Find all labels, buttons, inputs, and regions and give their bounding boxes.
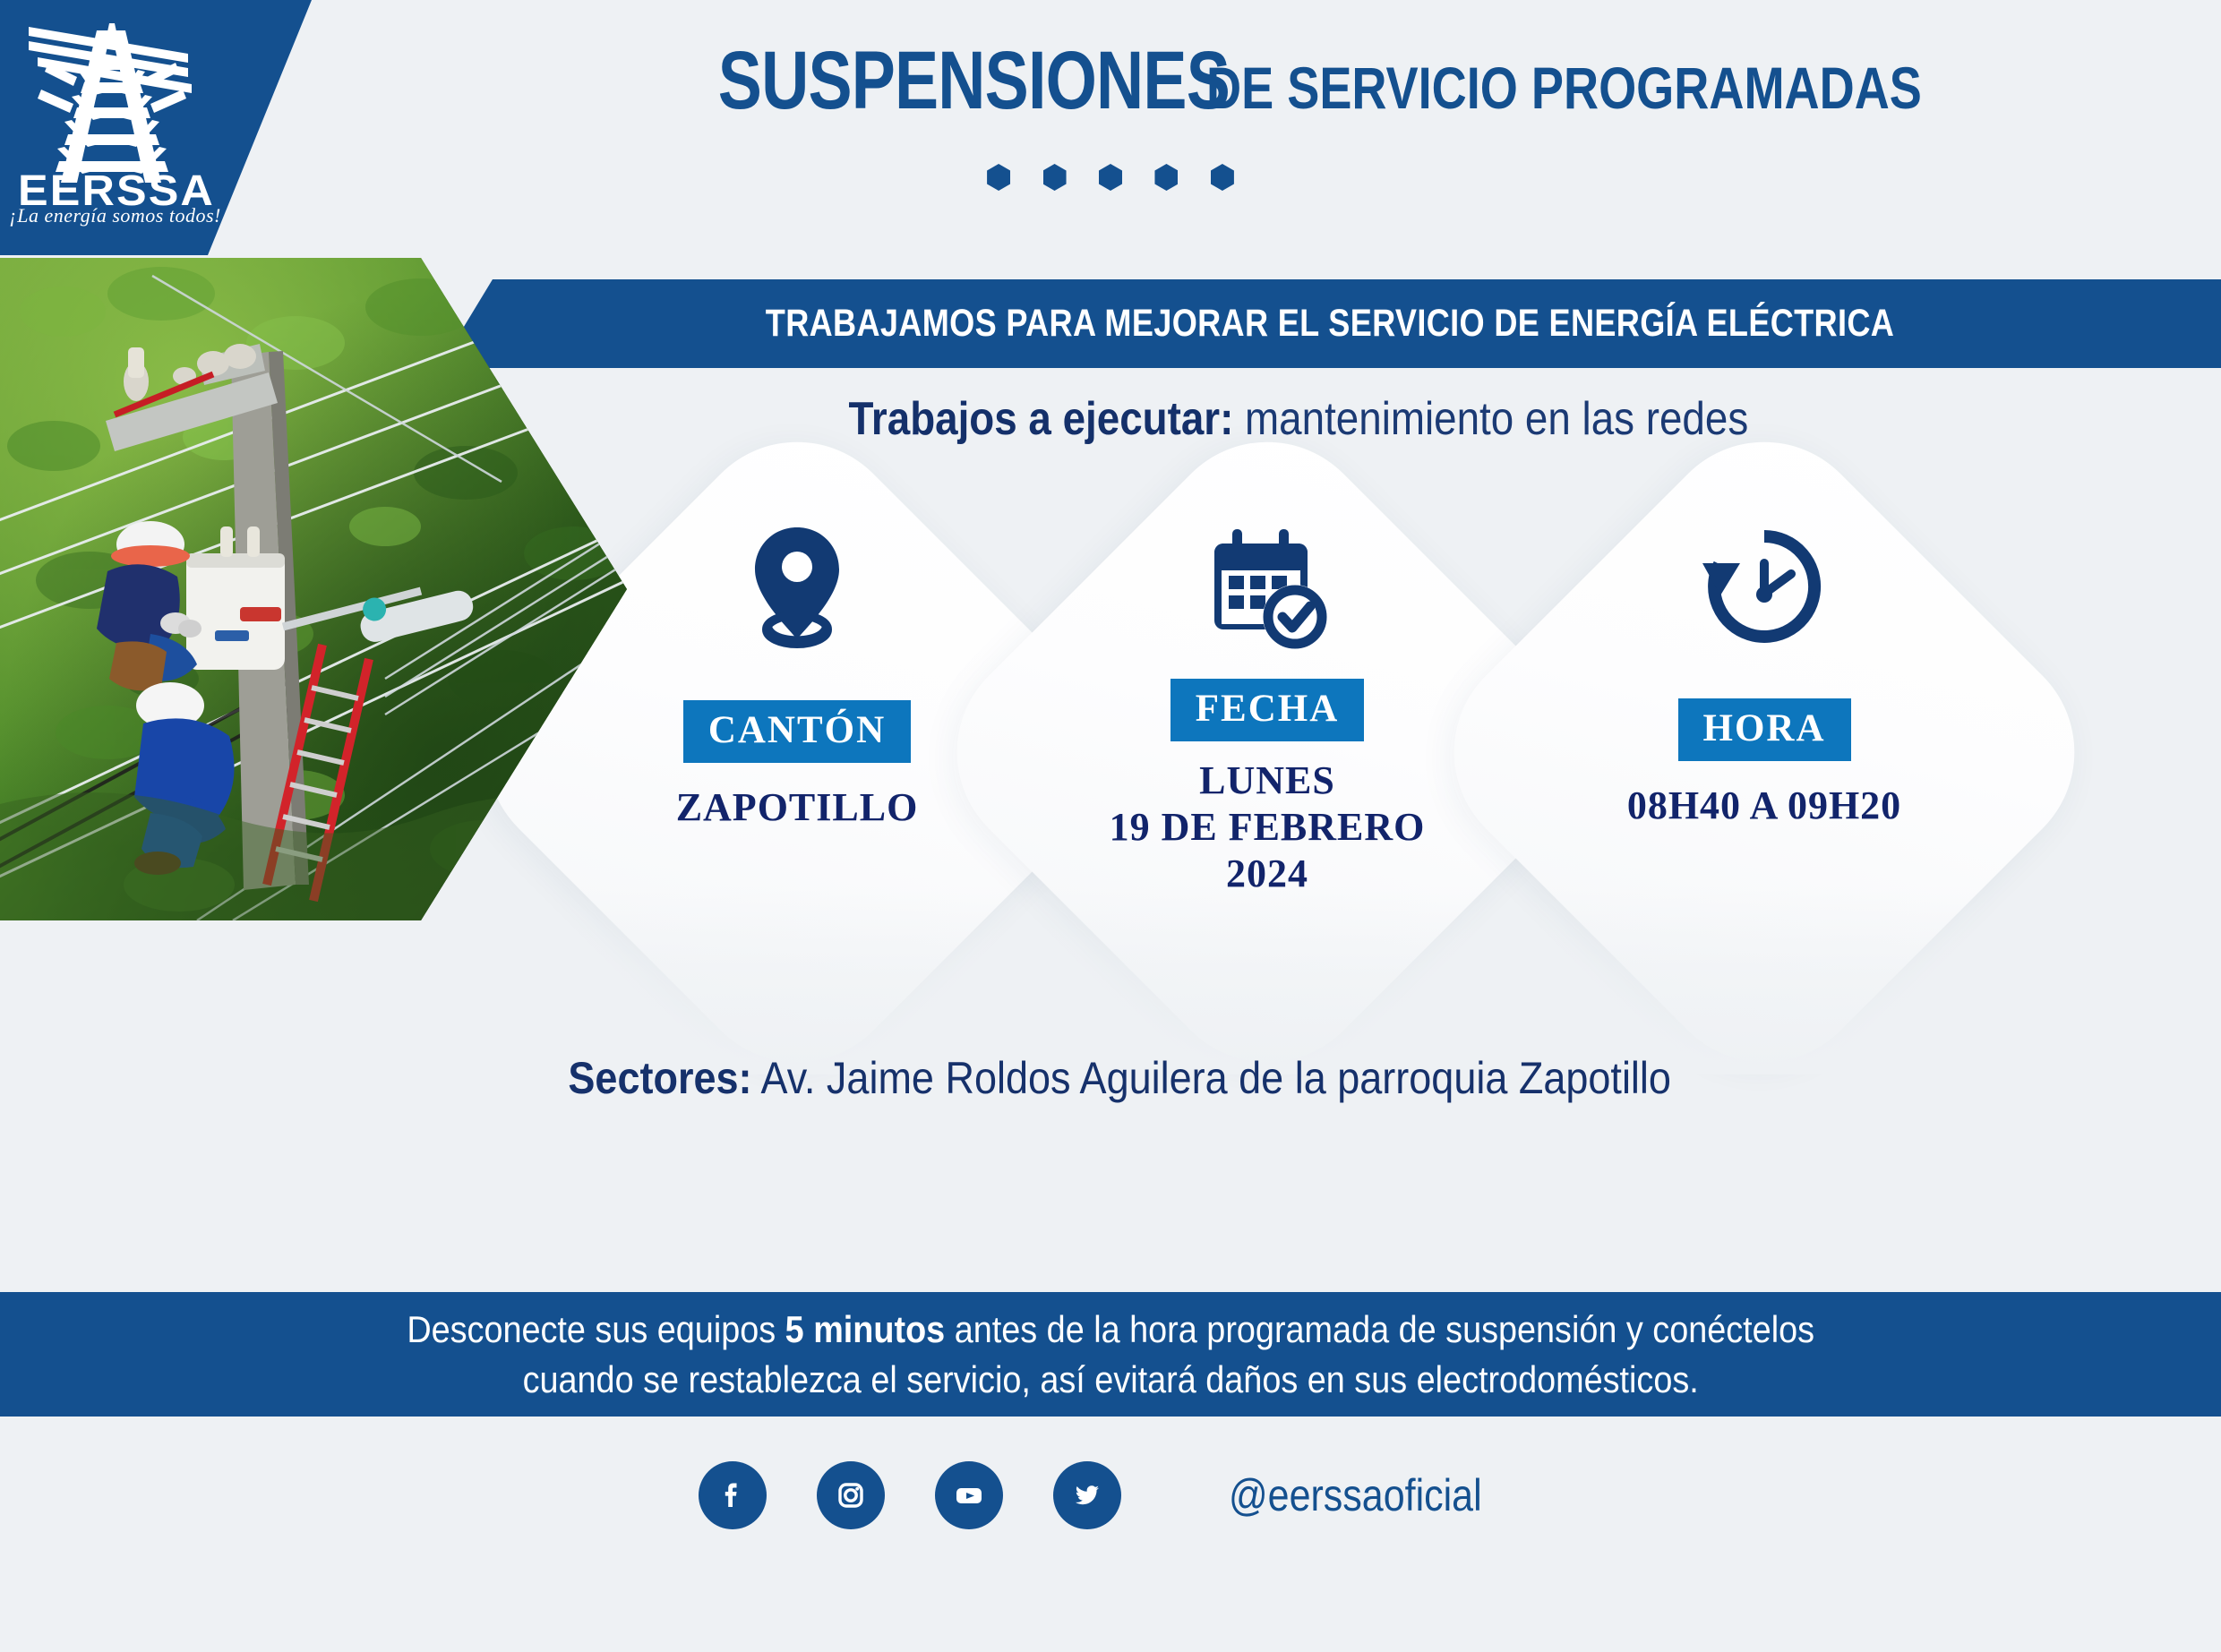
divider-dot — [1211, 164, 1234, 191]
card-badge-canton: CANTÓN — [683, 700, 911, 763]
card-value-fecha-line1: LUNES — [1016, 758, 1518, 804]
divider-dot — [1099, 164, 1122, 191]
title-divider-dots — [0, 164, 2221, 195]
banner-text: TRABAJAMOS PARA MEJORAR EL SERVICIO DE E… — [581, 279, 2079, 368]
logo-tagline: ¡La energía somos todos! — [5, 204, 225, 227]
card-value-fecha-line3: 2024 — [1016, 851, 1518, 897]
sectors-value: Av. Jaime Roldos Aguilera de la parroqui… — [760, 1053, 1670, 1103]
card-badge-fecha: FECHA — [1171, 679, 1365, 741]
social-row: @eerssaoficial — [0, 1433, 2221, 1558]
calendar-check-icon — [1016, 510, 1518, 672]
notice-line2: cuando se restablezca el servicio, así e… — [407, 1355, 1814, 1404]
transmission-tower-icon — [21, 7, 210, 186]
page-title-light: DE SERVICIO PROGRAMADAS — [1206, 58, 1922, 117]
card-value-fecha-line2: 19 DE FEBRERO — [1016, 804, 1518, 851]
twitter-icon[interactable] — [1053, 1461, 1121, 1529]
divider-dot — [1043, 164, 1067, 191]
divider-dot — [987, 164, 1010, 191]
notice-band: Desconecte sus equipos 5 minutos antes d… — [0, 1292, 2221, 1417]
card-fecha: FECHA LUNES 19 DE FEBRERO 2024 — [1016, 501, 1518, 1110]
divider-dot — [1154, 164, 1178, 191]
page-title-strong: SUSPENSIONES — [718, 39, 1230, 122]
card-value-hora: 08H40 A 09H20 — [1514, 783, 2015, 829]
card-badge-hora: HORA — [1678, 698, 1851, 761]
poster-canvas: TRABAJAMOS PARA MEJORAR EL SERVICIO DE E… — [0, 0, 2221, 1652]
social-handle[interactable]: @eerssaoficial — [1229, 1469, 1482, 1521]
works-label: Trabajos a ejecutar: — [849, 393, 1234, 445]
notice-line1-post: antes de la hora programada de suspensió… — [945, 1308, 1814, 1350]
facebook-icon[interactable] — [699, 1461, 767, 1529]
clock-arrow-icon — [1514, 510, 2015, 672]
instagram-icon[interactable] — [817, 1461, 885, 1529]
card-hora: HORA 08H40 A 09H20 — [1514, 501, 2015, 1110]
sectors-label: Sectores: — [568, 1053, 751, 1103]
works-value: mantenimiento en las redes — [1245, 393, 1748, 445]
banner-strip: TRABAJAMOS PARA MEJORAR EL SERVICIO DE E… — [439, 279, 2221, 368]
notice-line1-pre: Desconecte sus equipos — [407, 1308, 785, 1350]
card-value-canton: ZAPOTILLO — [546, 784, 1048, 831]
eerssa-logo-badge: EERSSA ¡La energía somos todos! — [0, 0, 312, 255]
youtube-icon[interactable] — [935, 1461, 1003, 1529]
notice-text: Desconecte sus equipos 5 minutos antes d… — [407, 1305, 1814, 1404]
sectors-line: Sectores: Av. Jaime Roldos Aguilera de l… — [269, 1052, 1970, 1104]
page-title: SUSPENSIONESDE SERVICIO PROGRAMADAS — [537, 39, 2131, 122]
works-line: Trabajos a ejecutar: mantenimiento en la… — [448, 392, 2149, 446]
notice-line1-bold: 5 minutos — [785, 1308, 945, 1350]
